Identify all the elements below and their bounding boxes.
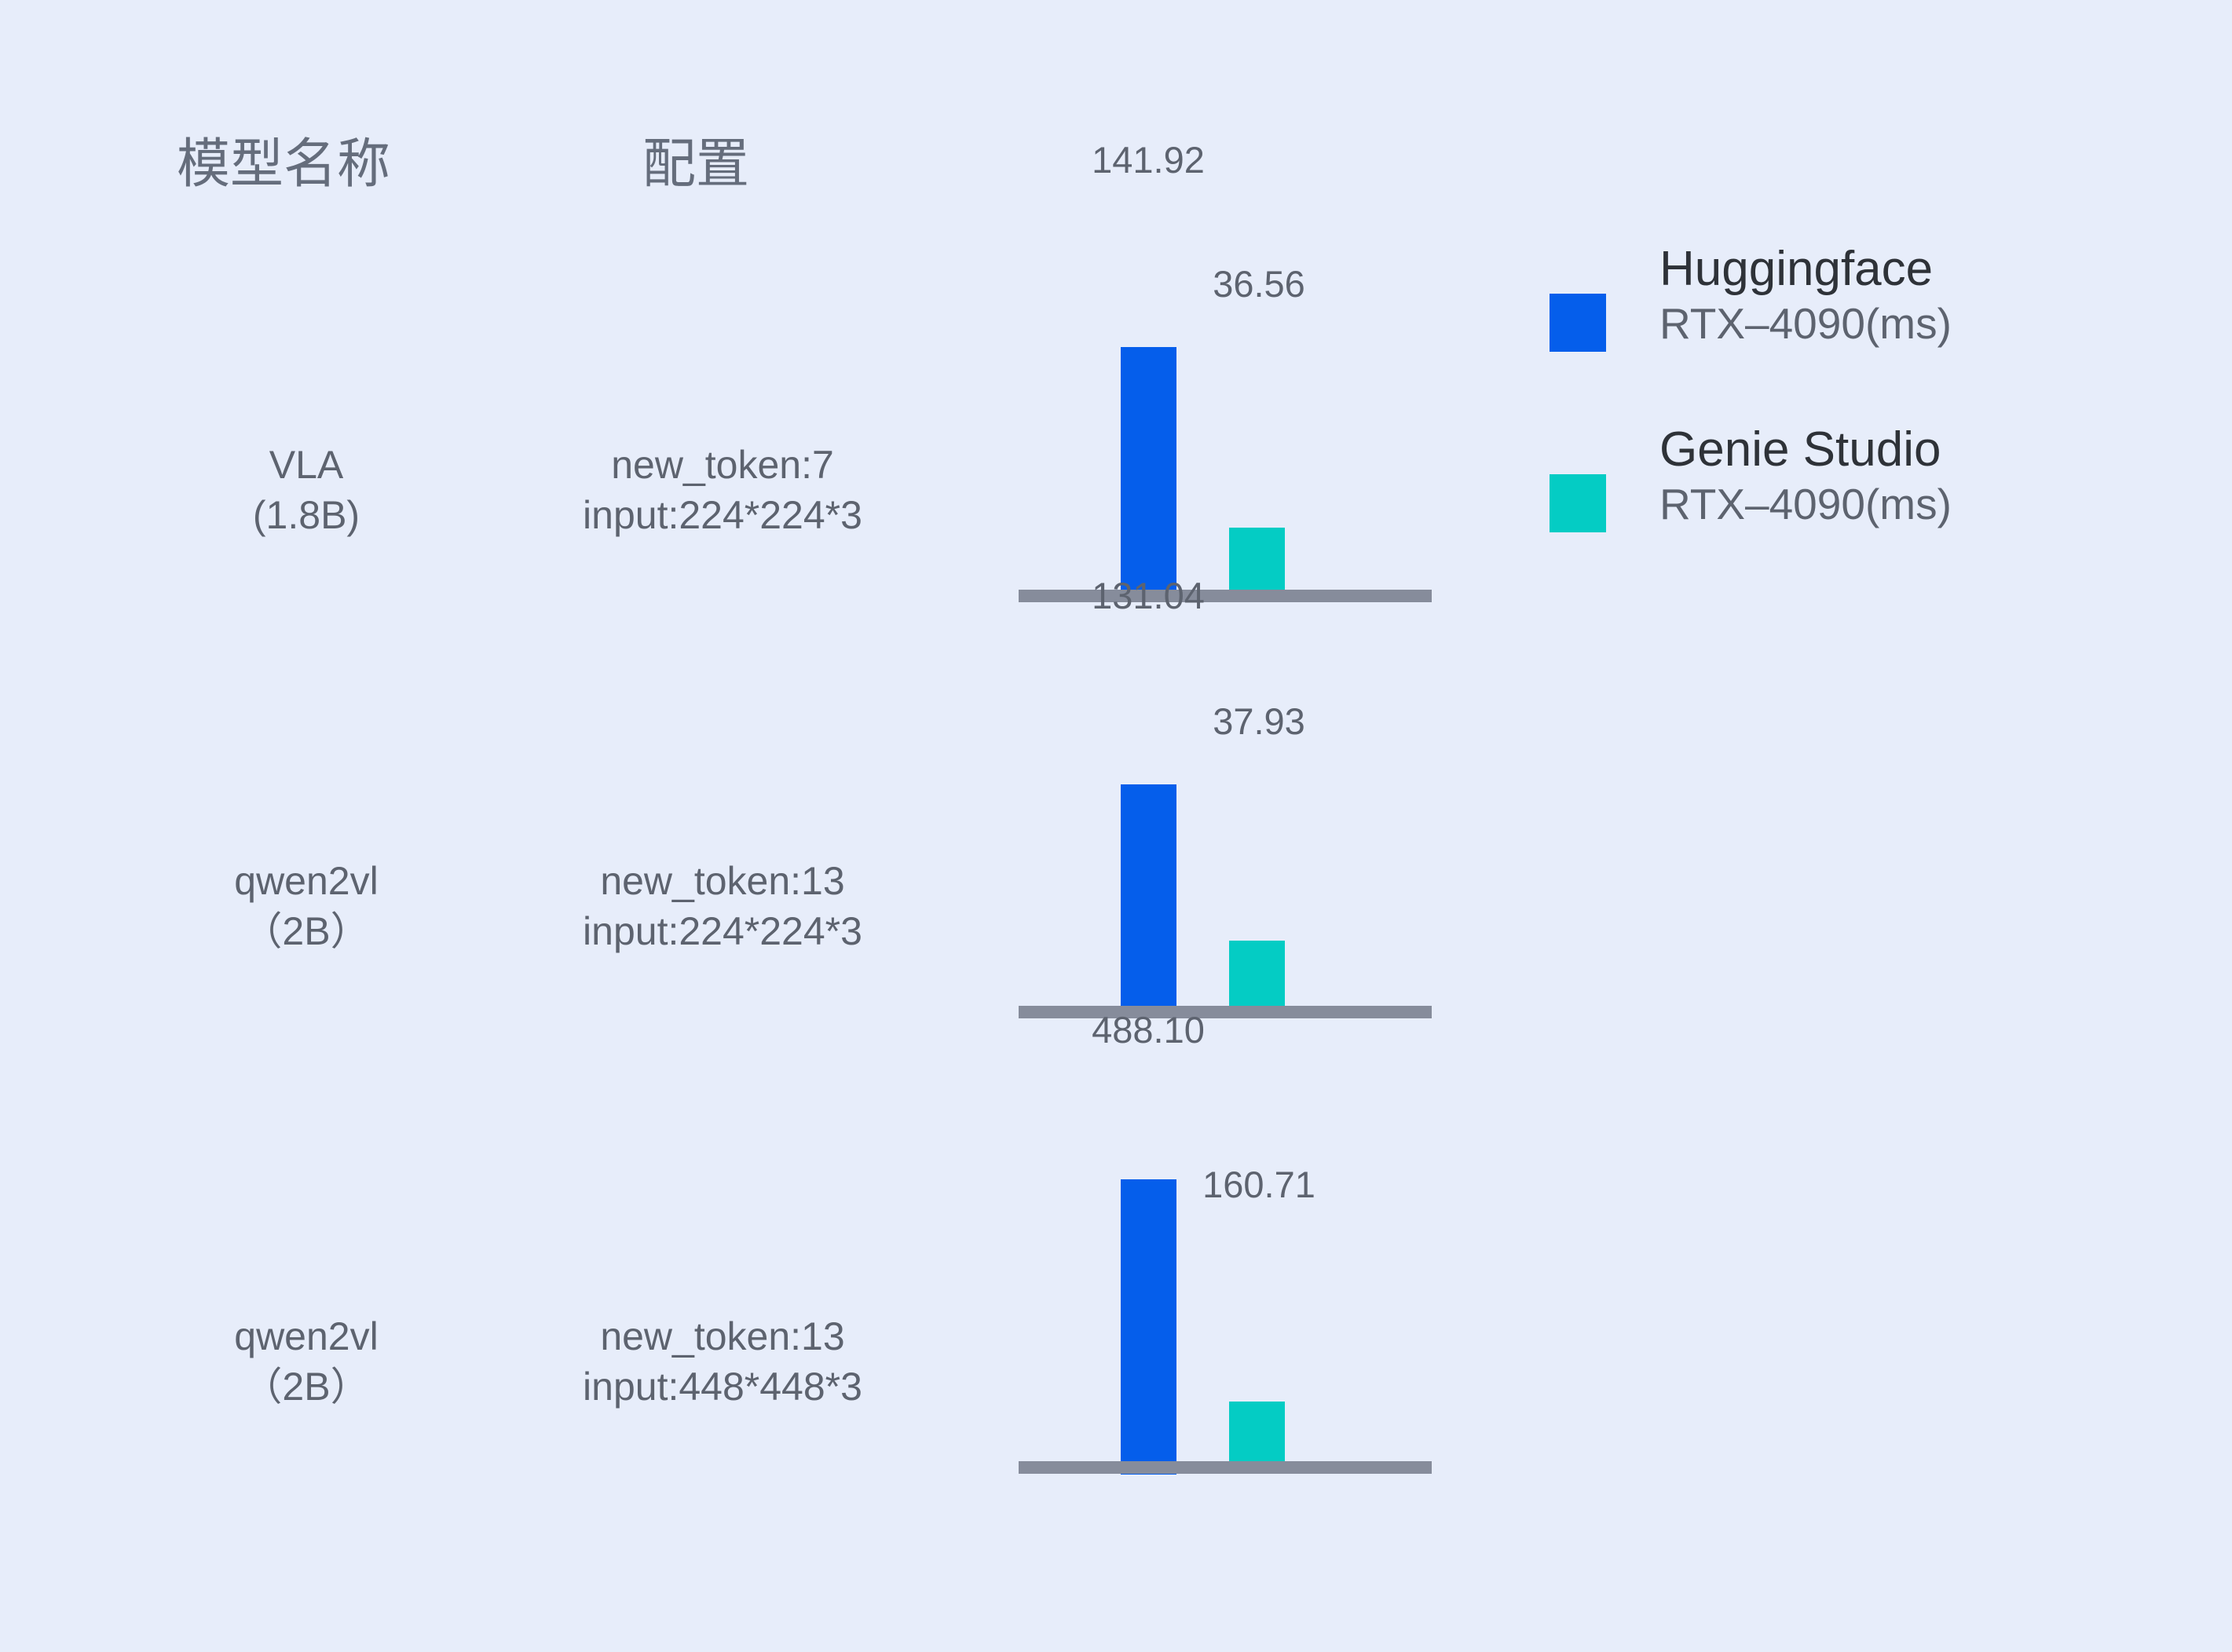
bar-value-label-genie-studio: 160.71 (1165, 1166, 1353, 1203)
legend-item-title: Genie Studio (1659, 424, 2099, 475)
bar-value-label-genie-studio: 37.93 (1165, 703, 1353, 740)
row-model-line-1: qwen2vl (141, 1311, 471, 1361)
legend-item-sublabel: RTX–4090(ms) (1659, 475, 2099, 533)
square-swatch-icon (1550, 294, 1606, 352)
legend-item-genie-studio[interactable]: Genie Studio RTX–4090(ms) (1550, 424, 2115, 605)
row-config-line-2: input:224*224*3 (503, 490, 942, 540)
row-model-line-2: （2B） (141, 1361, 471, 1412)
column-header-model-name: 模型名称 (177, 137, 390, 191)
row-model-line-1: qwen2vl (141, 856, 471, 906)
row-config-line-1: new_token:13 (503, 856, 942, 906)
bar-huggingface[interactable] (1121, 784, 1176, 1006)
row-model-line-2: (1.8B) (141, 490, 471, 540)
legend-item-sublabel: RTX–4090(ms) (1659, 294, 2099, 353)
legend-item-title: Huggingface (1659, 243, 2099, 294)
row-bar-chart: 141.92 36.56 (1019, 149, 1435, 589)
legend-item-text: Genie Studio RTX–4090(ms) (1659, 424, 2099, 533)
row-config-line-2: input:448*448*3 (503, 1361, 942, 1412)
bar-genie-studio[interactable] (1229, 1402, 1285, 1461)
bar-value-label-huggingface: 141.92 (1054, 141, 1242, 178)
column-header-config: 配置 (642, 137, 749, 191)
row-config: new_token:13 input:448*448*3 (503, 1311, 942, 1412)
row-config: new_token:7 input:224*224*3 (503, 440, 942, 540)
bar-huggingface[interactable] (1121, 1179, 1176, 1475)
bar-value-label-genie-studio: 36.56 (1165, 265, 1353, 302)
row-config: new_token:13 input:224*224*3 (503, 856, 942, 956)
row-bar-chart: 488.10 160.71 (1019, 1029, 1435, 1484)
bar-genie-studio[interactable] (1229, 941, 1285, 1006)
bar-value-label-huggingface: 488.10 (1054, 1011, 1242, 1048)
chart-baseline (1019, 1461, 1432, 1474)
row-config-line-1: new_token:13 (503, 1311, 942, 1361)
bar-value-label-huggingface: 131.04 (1054, 577, 1242, 614)
chart-page: 模型名称 配置 VLA (1.8B) new_token:7 input:224… (0, 0, 2232, 1652)
row-model-name: qwen2vl （2B） (141, 1311, 471, 1412)
legend-item-huggingface[interactable]: Huggingface RTX–4090(ms) (1550, 243, 2115, 424)
row-config-line-1: new_token:7 (503, 440, 942, 490)
legend-item-text: Huggingface RTX–4090(ms) (1659, 243, 2099, 353)
row-bar-chart: 131.04 37.93 (1019, 589, 1435, 1029)
chart-legend: Huggingface RTX–4090(ms) Genie Studio RT… (1550, 243, 2115, 605)
square-swatch-icon (1550, 474, 1606, 532)
row-model-line-2: （2B） (141, 906, 471, 956)
row-model-name: VLA (1.8B) (141, 440, 471, 540)
bar-huggingface[interactable] (1121, 347, 1176, 590)
row-model-line-1: VLA (141, 440, 471, 490)
row-model-name: qwen2vl （2B） (141, 856, 471, 956)
row-config-line-2: input:224*224*3 (503, 906, 942, 956)
